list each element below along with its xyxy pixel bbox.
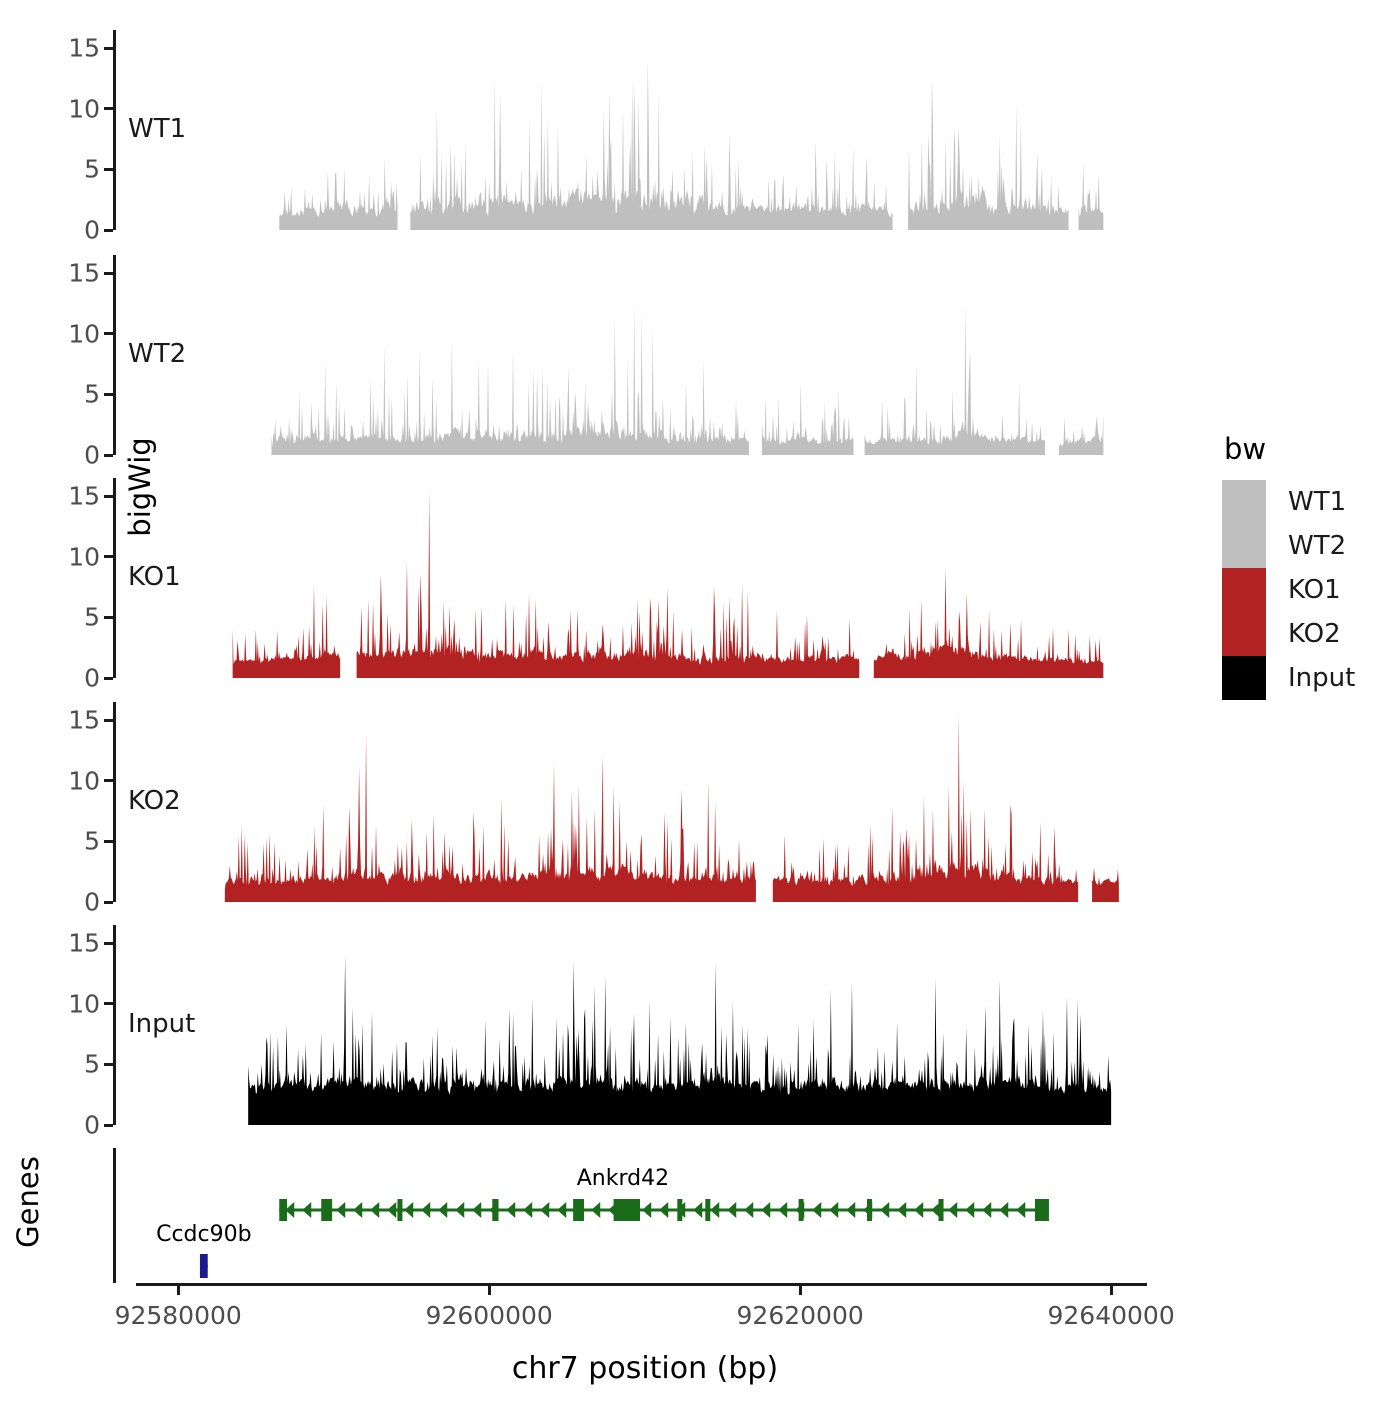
x-axis-tick-label: 92600000 xyxy=(426,1301,553,1330)
y-axis-tick xyxy=(104,168,113,171)
y-axis-tick-label: 0 xyxy=(84,1111,100,1140)
y-axis-tick-label: 15 xyxy=(68,259,100,288)
y-axis-tick-label: 10 xyxy=(68,766,100,795)
y-axis-tick-label: 0 xyxy=(84,664,100,693)
track-label-wt1: WT1 xyxy=(128,114,186,144)
legend-label: KO1 xyxy=(1288,575,1341,605)
y-axis-tick-label: 15 xyxy=(68,706,100,735)
y-axis-tick xyxy=(104,1063,113,1066)
y-axis-tick-label: 5 xyxy=(84,827,100,856)
gene-track-svg xyxy=(116,1148,1150,1283)
legend-swatch-ko1 xyxy=(1222,568,1266,612)
y-axis-tick-label: 0 xyxy=(84,441,100,470)
signal-area-input xyxy=(116,925,1150,1125)
y-axis-tick-label: 5 xyxy=(84,603,100,632)
x-axis-tick-label: 92620000 xyxy=(737,1301,864,1330)
legend-items: WT1WT2KO1KO2Input xyxy=(1222,480,1392,700)
legend-item-ko2[interactable]: KO2 xyxy=(1222,612,1392,656)
legend-title: bw xyxy=(1224,432,1392,466)
legend-swatch-wt1 xyxy=(1222,480,1266,524)
x-axis-tick xyxy=(1110,1286,1113,1295)
y-axis-tick xyxy=(104,495,113,498)
y-axis-tick xyxy=(104,942,113,945)
y-axis-tick-label: 15 xyxy=(68,34,100,63)
y-axis-tick xyxy=(104,1124,113,1127)
y-axis-tick-label: 0 xyxy=(84,216,100,245)
x-axis: 92580000926000009262000092640000 chr7 po… xyxy=(0,1283,1400,1403)
y-axis-tick xyxy=(104,1002,113,1005)
legend-swatch-input xyxy=(1222,656,1266,700)
y-axis-tick-label: 5 xyxy=(84,155,100,184)
x-axis-tick xyxy=(488,1286,491,1295)
track-panel-ko2: 051015 xyxy=(113,702,1150,902)
track-panel-wt1: 051015 xyxy=(113,30,1150,230)
legend-swatch-wt2 xyxy=(1222,524,1266,568)
y-axis-tick xyxy=(104,901,113,904)
track-label-wt2: WT2 xyxy=(128,339,186,369)
y-axis-tick xyxy=(104,332,113,335)
y-axis-tick xyxy=(104,779,113,782)
track-panel-ko1: 051015 xyxy=(113,478,1150,678)
legend-item-wt1[interactable]: WT1 xyxy=(1222,480,1392,524)
signal-area-ko2 xyxy=(116,702,1150,902)
legend-swatch-ko2 xyxy=(1222,612,1266,656)
genome-browser-figure: bigWig Genes 051015051015051015051015051… xyxy=(0,0,1400,1400)
y-axis-tick-label: 0 xyxy=(84,888,100,917)
y-axis-tick-label: 5 xyxy=(84,1050,100,1079)
track-panel-input: 051015 xyxy=(113,925,1150,1125)
x-axis-title: chr7 position (bp) xyxy=(0,1351,1290,1386)
x-axis-tick xyxy=(799,1286,802,1295)
y-axis-tick-label: 10 xyxy=(68,94,100,123)
y-axis-tick-label: 10 xyxy=(68,542,100,571)
legend-item-wt2[interactable]: WT2 xyxy=(1222,524,1392,568)
y-axis-tick xyxy=(104,393,113,396)
y-axis-tick xyxy=(104,272,113,275)
legend-item-input[interactable]: Input xyxy=(1222,656,1392,700)
y-axis-tick-label: 5 xyxy=(84,380,100,409)
y-axis-tick xyxy=(104,719,113,722)
track-label-ko2: KO2 xyxy=(128,786,181,816)
y-axis-tick xyxy=(104,47,113,50)
signal-area-wt1 xyxy=(116,30,1150,230)
x-axis-tick xyxy=(177,1286,180,1295)
y-axis-tick-label: 10 xyxy=(68,989,100,1018)
y-axis-tick-label: 10 xyxy=(68,319,100,348)
y-axis-tick xyxy=(104,616,113,619)
legend-label: KO2 xyxy=(1288,619,1341,649)
y-axis-tick xyxy=(104,229,113,232)
y-axis-tick xyxy=(104,677,113,680)
legend: bw WT1WT2KO1KO2Input xyxy=(1222,432,1392,700)
y-axis-tick-label: 15 xyxy=(68,929,100,958)
y-axis-tick xyxy=(104,454,113,457)
y-axis-tick xyxy=(104,555,113,558)
y-axis-tick xyxy=(104,840,113,843)
genes-panel: Ankrd42Ccdc90b xyxy=(113,1148,1173,1283)
track-panel-wt2: 051015 xyxy=(113,255,1150,455)
signal-area-wt2 xyxy=(116,255,1150,455)
legend-label: WT1 xyxy=(1288,487,1346,517)
track-label-input: Input xyxy=(128,1009,195,1039)
y-axis-tick-label: 15 xyxy=(68,482,100,511)
x-axis-tick-label: 92640000 xyxy=(1048,1301,1175,1330)
x-axis-tick-label: 92580000 xyxy=(115,1301,242,1330)
genes-axis-title: Genes xyxy=(11,1122,45,1282)
legend-item-ko1[interactable]: KO1 xyxy=(1222,568,1392,612)
x-axis-line xyxy=(136,1283,1147,1286)
legend-label: WT2 xyxy=(1288,531,1346,561)
y-axis-tick xyxy=(104,107,113,110)
legend-label: Input xyxy=(1288,663,1355,693)
signal-area-ko1 xyxy=(116,478,1150,678)
track-label-ko1: KO1 xyxy=(128,562,181,592)
